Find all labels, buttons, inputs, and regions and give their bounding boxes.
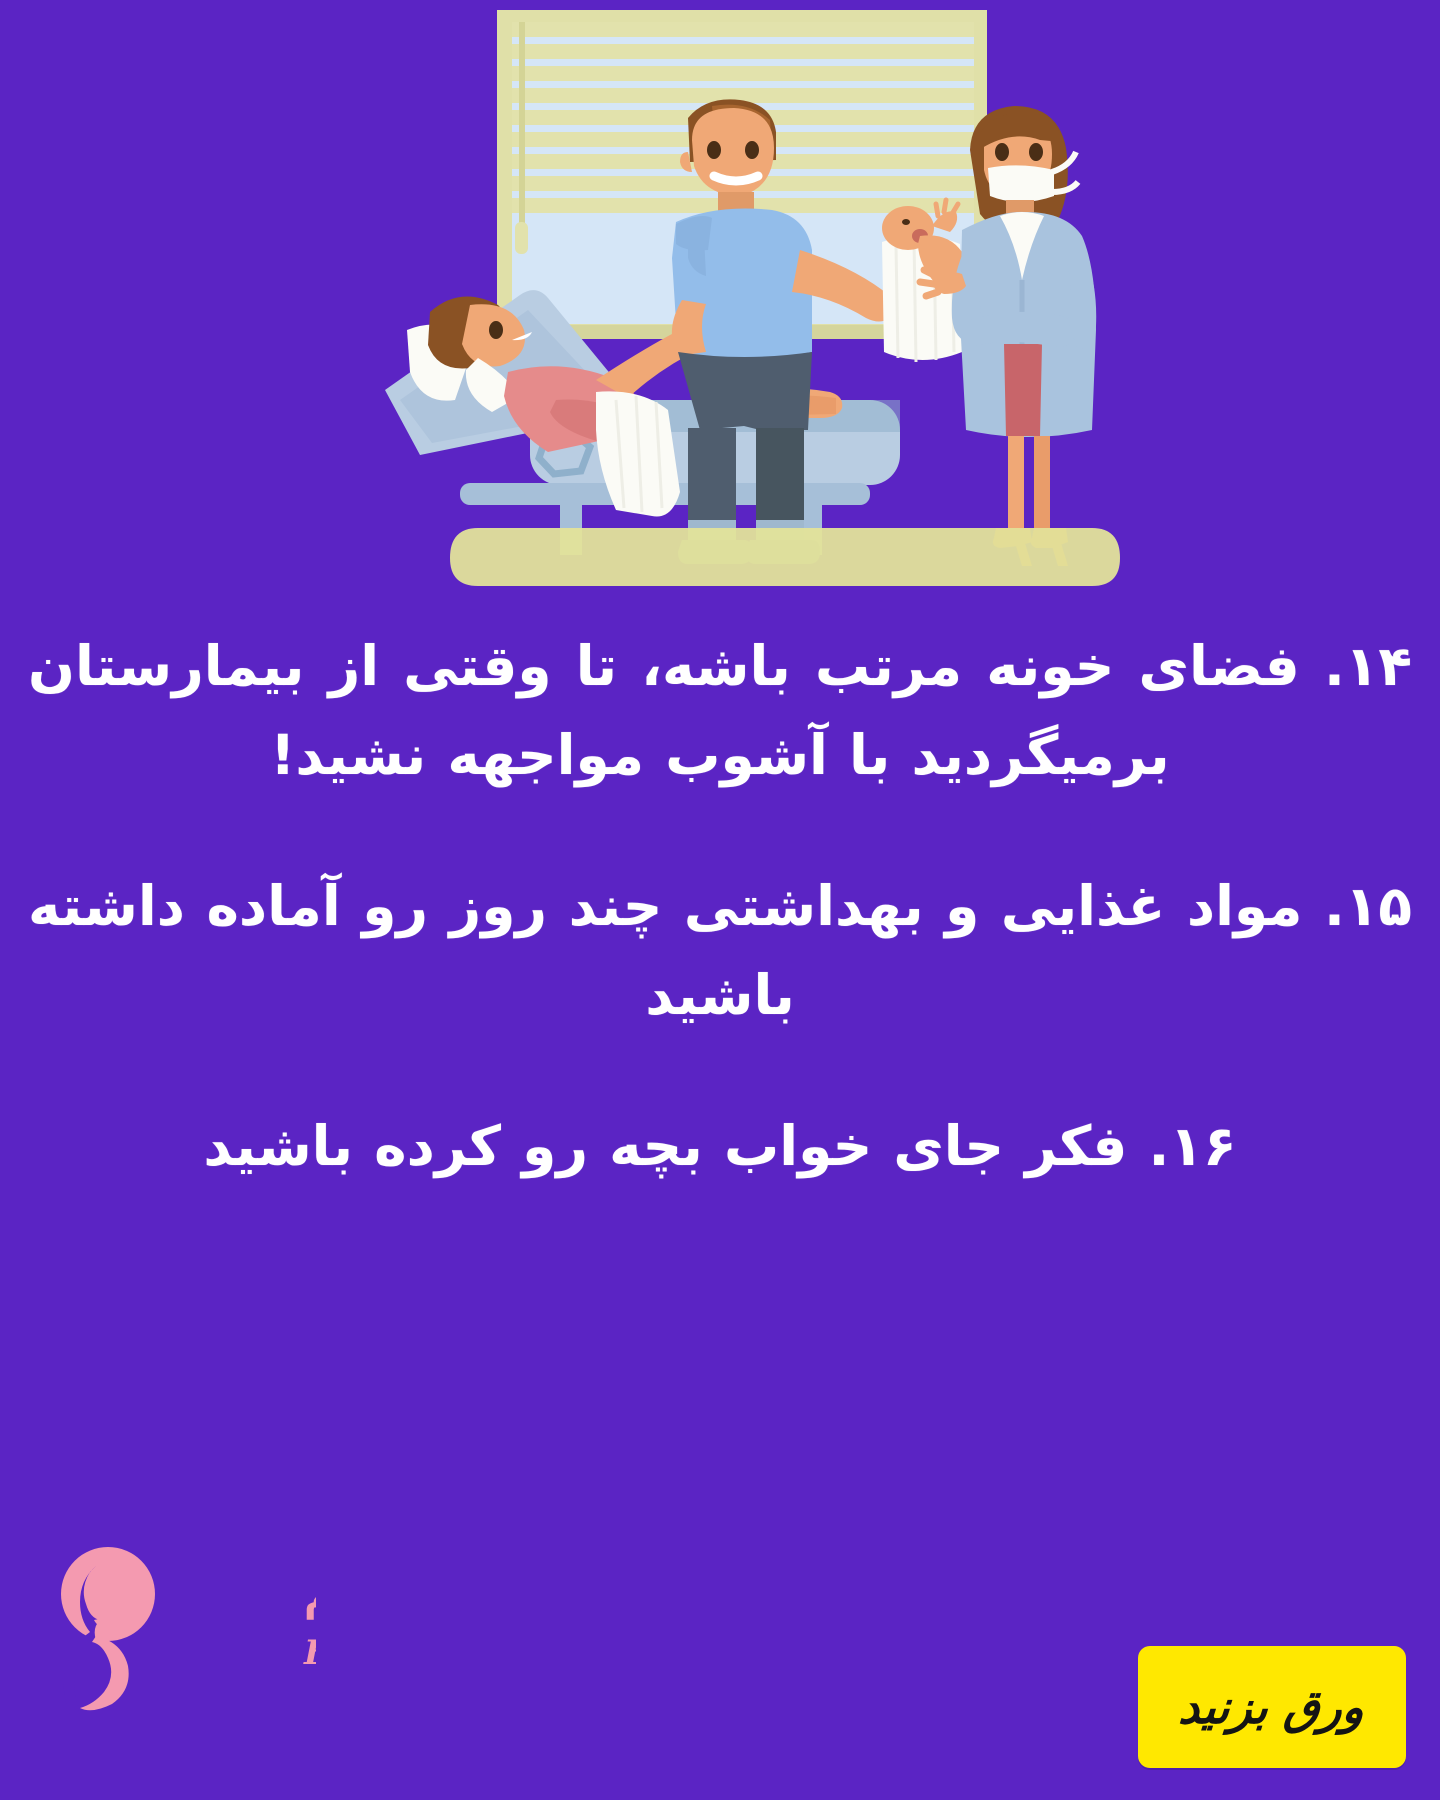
tip-item-16: ۱۶. فکر جای خواب بچه رو کرده باشید — [28, 1040, 1412, 1191]
tip-item-14: ۱۴. فضای خونه مرتب باشه، تا وقتی از بیما… — [28, 600, 1412, 800]
bardarigram-logo[interactable]: بارداریگرام Bardarigram — [46, 1532, 316, 1722]
logo-persian-text: بارداریگرام — [304, 1573, 316, 1620]
tips-text-block: ۱۴. فضای خونه مرتب باشه، تا وقتی از بیما… — [0, 600, 1440, 1191]
swipe-next-button[interactable]: ورق بزنید — [1138, 1646, 1406, 1768]
floor-ellipse — [450, 528, 1120, 586]
hospital-birth-illustration — [0, 0, 1440, 600]
tip-item-15: ۱۵. مواد غذایی و بهداشتی چند روز رو آماد… — [28, 800, 1412, 1040]
pregnant-woman-silhouette-icon — [61, 1547, 155, 1714]
logo-latin-text: Bardarigram — [303, 1633, 316, 1673]
slide-canvas: ۱۴. فضای خونه مرتب باشه، تا وقتی از بیما… — [0, 0, 1440, 1800]
swipe-next-label: ورق بزنید — [1178, 1680, 1367, 1734]
